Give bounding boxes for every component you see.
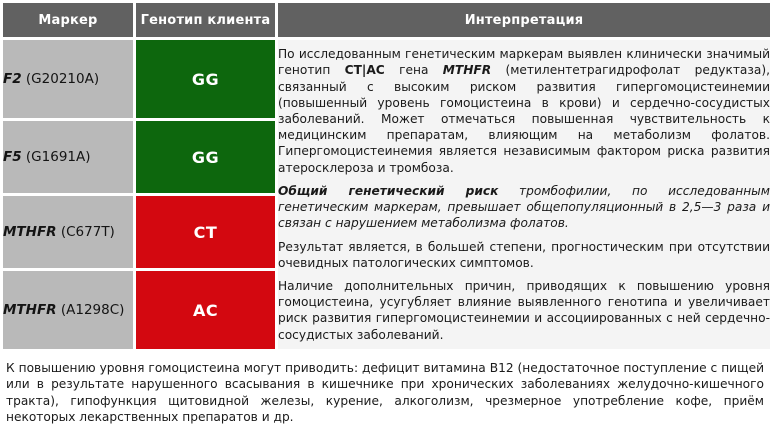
genetic-report-sheet: Маркер Генотип клиента Интерпретация F2 … — [0, 0, 770, 423]
marker-cell-mthfr-a1298c: MTHFR (A1298C) — [3, 271, 133, 349]
interp-p1-part-b: гена — [385, 63, 443, 77]
table-row: F2 (G20210A) GG По исследованным генетич… — [3, 40, 770, 118]
table-header-row: Маркер Генотип клиента Интерпретация — [3, 3, 770, 37]
genotype-badge-f2: GG — [136, 40, 275, 118]
footnote-text: К повышению уровня гомоцистеина могут пр… — [0, 352, 770, 426]
column-header-genotype: Генотип клиента — [136, 3, 275, 37]
marker-cell-f5: F5 (G1691A) — [3, 121, 133, 193]
gene-name: F2 — [3, 71, 22, 87]
genotype-badge-mthfr-a1298c: AC — [136, 271, 275, 349]
marker-cell-mthfr-c677t: MTHFR (C677T) — [3, 196, 133, 268]
interpretation-paragraph-3: Результат является, в большей степени, п… — [278, 239, 770, 271]
gene-variant: (A1298C) — [57, 302, 125, 318]
interpretation-paragraph-4: Наличие дополнительных причин, приводящи… — [278, 278, 770, 343]
gene-name: F5 — [3, 149, 22, 165]
gene-name: MTHFR — [3, 302, 57, 318]
genotype-badge-mthfr-c677t: CT — [136, 196, 275, 268]
table-header: Маркер Генотип клиента Интерпретация — [3, 3, 770, 37]
interp-p1-genotype: CT|AC — [345, 63, 385, 77]
gene-variant: (C677T) — [57, 224, 115, 240]
interpretation-paragraph-1: По исследованным генетическим маркерам в… — [278, 46, 770, 176]
genotype-badge-f5: GG — [136, 121, 275, 193]
gene-variant: (G20210A) — [22, 71, 99, 87]
interp-p1-gene: MTHFR — [443, 63, 491, 77]
interpretation-paragraph-2: Общий генетический риск тромбофилии, по … — [278, 183, 770, 232]
genetic-markers-table: Маркер Генотип клиента Интерпретация F2 … — [0, 0, 770, 352]
column-header-interpretation: Интерпретация — [278, 3, 770, 37]
table-body: F2 (G20210A) GG По исследованным генетич… — [3, 40, 770, 349]
marker-cell-f2: F2 (G20210A) — [3, 40, 133, 118]
gene-name: MTHFR — [3, 224, 57, 240]
interpretation-cell: По исследованным генетическим маркерам в… — [278, 40, 770, 349]
interp-p2-lead: Общий генетический риск — [278, 184, 498, 198]
gene-variant: (G1691A) — [22, 149, 91, 165]
interp-p1-part-c: (метилентетрагидрофолат редуктаза), связ… — [278, 63, 770, 174]
column-header-marker: Маркер — [3, 3, 133, 37]
